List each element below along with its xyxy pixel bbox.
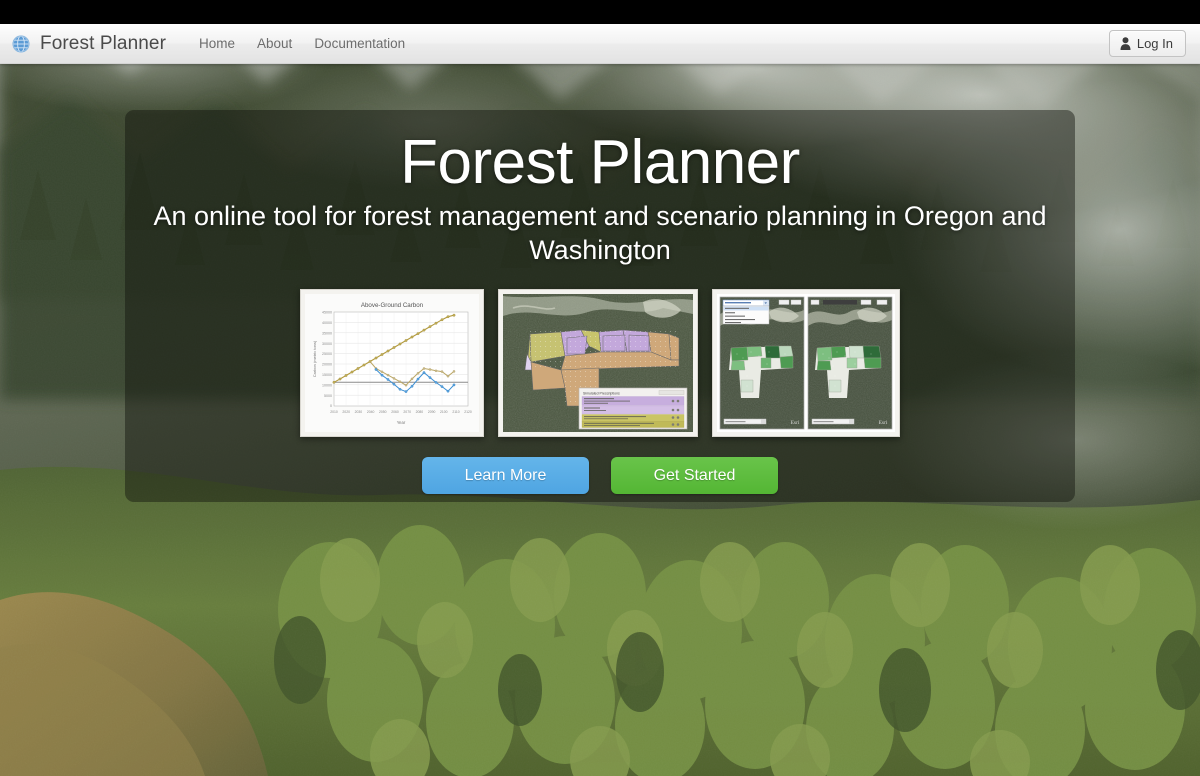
svg-text:2050: 2050 xyxy=(379,410,387,414)
svg-text:2030: 2030 xyxy=(355,410,363,414)
thumb-prescription-map[interactable]: Simulated Prescriptions xyxy=(498,289,698,437)
svg-text:5000: 5000 xyxy=(324,394,332,398)
svg-text:10000: 10000 xyxy=(322,384,332,388)
svg-text:40000: 40000 xyxy=(322,321,332,325)
navbar-right: Log In xyxy=(1109,30,1186,57)
browser-top-strip xyxy=(0,0,1200,24)
nav-links: Home About Documentation xyxy=(188,24,416,64)
svg-text:2120: 2120 xyxy=(464,410,472,414)
svg-text:Esri: Esri xyxy=(879,420,888,426)
thumb-scenario-compare[interactable]: Esri xyxy=(712,289,900,437)
svg-text:25000: 25000 xyxy=(322,353,332,357)
get-started-button[interactable]: Get Started xyxy=(611,457,778,494)
brand[interactable]: Forest Planner xyxy=(12,24,166,64)
svg-text:15000: 15000 xyxy=(322,373,332,377)
svg-text:2070: 2070 xyxy=(403,410,411,414)
globe-icon xyxy=(12,35,30,53)
svg-text:2090: 2090 xyxy=(428,410,436,414)
nav-link-about[interactable]: About xyxy=(246,24,303,64)
svg-text:2060: 2060 xyxy=(391,410,399,414)
page-root: Forest Planner Home About Documentation … xyxy=(0,0,1200,776)
svg-text:45000: 45000 xyxy=(322,311,332,315)
svg-text:2040: 2040 xyxy=(367,410,375,414)
svg-text:2020: 2020 xyxy=(342,410,350,414)
legend-title: Simulated Prescriptions xyxy=(583,392,620,396)
svg-text:2010: 2010 xyxy=(330,410,338,414)
login-button[interactable]: Log In xyxy=(1109,30,1186,57)
cta-row: Learn More Get Started xyxy=(125,457,1075,494)
learn-more-button[interactable]: Learn More xyxy=(422,457,589,494)
svg-text:Esri: Esri xyxy=(791,420,800,426)
svg-text:20000: 20000 xyxy=(322,363,332,367)
thumb-carbon-chart[interactable]: Above-Ground Carbon xyxy=(300,289,484,437)
thumbnail-strip: Above-Ground Carbon xyxy=(125,289,1075,437)
main-navbar: Forest Planner Home About Documentation … xyxy=(0,24,1200,64)
svg-text:35000: 35000 xyxy=(322,332,332,336)
brand-title: Forest Planner xyxy=(40,33,166,55)
chart-title: Above-Ground Carbon xyxy=(361,302,424,309)
hero-panel: Forest Planner An online tool for forest… xyxy=(125,110,1075,502)
svg-text:30000: 30000 xyxy=(322,342,332,346)
nav-link-home[interactable]: Home xyxy=(188,24,246,64)
hero-subtitle: An online tool for forest management and… xyxy=(140,199,1060,267)
svg-text:0: 0 xyxy=(330,405,332,409)
login-button-label: Log In xyxy=(1137,36,1173,51)
map-legend-panel: Simulated Prescriptions xyxy=(579,388,687,429)
svg-text:Carbon (metric tons): Carbon (metric tons) xyxy=(312,341,317,378)
page-title: Forest Planner xyxy=(125,110,1075,197)
user-icon xyxy=(1120,37,1131,50)
svg-text:Year: Year xyxy=(397,420,406,425)
svg-text:2100: 2100 xyxy=(440,410,448,414)
svg-text:2110: 2110 xyxy=(452,410,459,414)
svg-text:2080: 2080 xyxy=(416,410,424,414)
nav-link-documentation[interactable]: Documentation xyxy=(303,24,416,64)
